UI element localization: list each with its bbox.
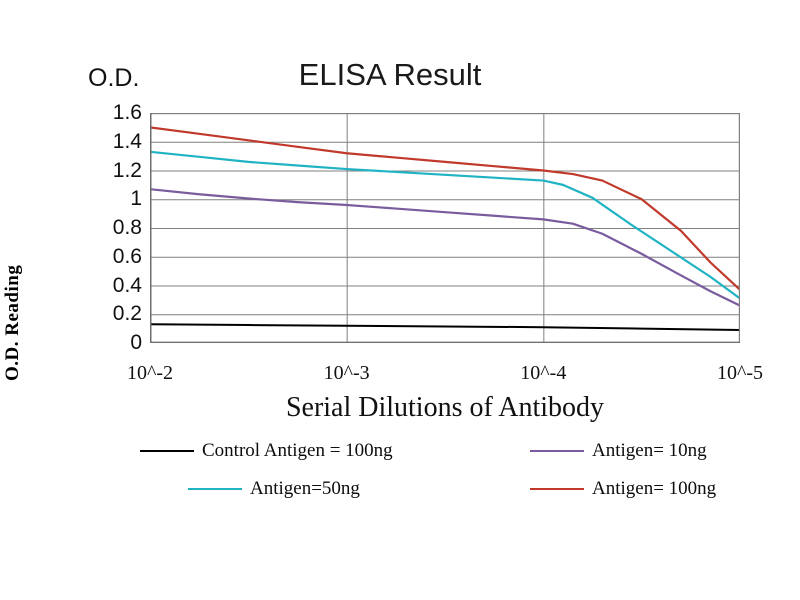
legend-label: Antigen= 10ng [592,440,707,462]
y-axis-tick-label: 1.4 [98,131,142,152]
series-line-0 [150,324,740,330]
plot-svg [150,113,740,343]
x-axis-tick-labels: 10^-210^-310^-410^-5 [0,362,800,392]
legend-label: Antigen=50ng [250,478,360,500]
x-axis-tick-label: 10^-2 [90,362,210,385]
y-axis-tick-labels: 00.20.40.60.811.21.41.6 [98,0,142,600]
legend-color-swatch [188,488,242,490]
x-axis-tick-label: 10^-5 [680,362,800,385]
y-axis-tick-label: 0.6 [98,246,142,267]
legend-color-swatch [140,450,194,452]
legend-item[interactable]: Antigen= 100ng [530,475,716,503]
legend-item[interactable]: Antigen= 10ng [530,437,707,465]
series-line-3 [150,127,740,289]
plot-area [150,113,740,343]
legend-label: Antigen= 100ng [592,478,716,500]
legend-color-swatch [530,450,584,452]
y-axis-tick-label: 0.2 [98,303,142,324]
gridlines [150,113,740,343]
y-axis-tick-label: 1.2 [98,160,142,181]
legend-item[interactable]: Control Antigen = 100ng [140,437,393,465]
y-axis-tick-label: 0.8 [98,217,142,238]
x-axis-tick-label: 10^-3 [287,362,407,385]
legend-label: Control Antigen = 100ng [202,440,393,462]
legend-color-swatch [530,488,584,490]
series-line-2 [150,152,740,299]
x-axis-title: Serial Dilutions of Antibody [150,392,740,424]
y-axis-tick-label: 1.6 [98,102,142,123]
x-axis-tick-label: 10^-4 [483,362,603,385]
chart-title: ELISA Result [240,57,540,93]
y-axis-tick-label: 0 [98,332,142,353]
y-axis-outer-title: O.D. Reading [2,181,28,381]
elisa-chart-page: O.D. Reading O.D. ELISA Result 00.20.40.… [0,0,800,600]
y-axis-tick-label: 1 [98,188,142,209]
y-axis-tick-label: 0.4 [98,275,142,296]
chart-legend: Control Antigen = 100ngAntigen= 10ngAnti… [140,437,740,507]
legend-item[interactable]: Antigen=50ng [188,475,360,503]
